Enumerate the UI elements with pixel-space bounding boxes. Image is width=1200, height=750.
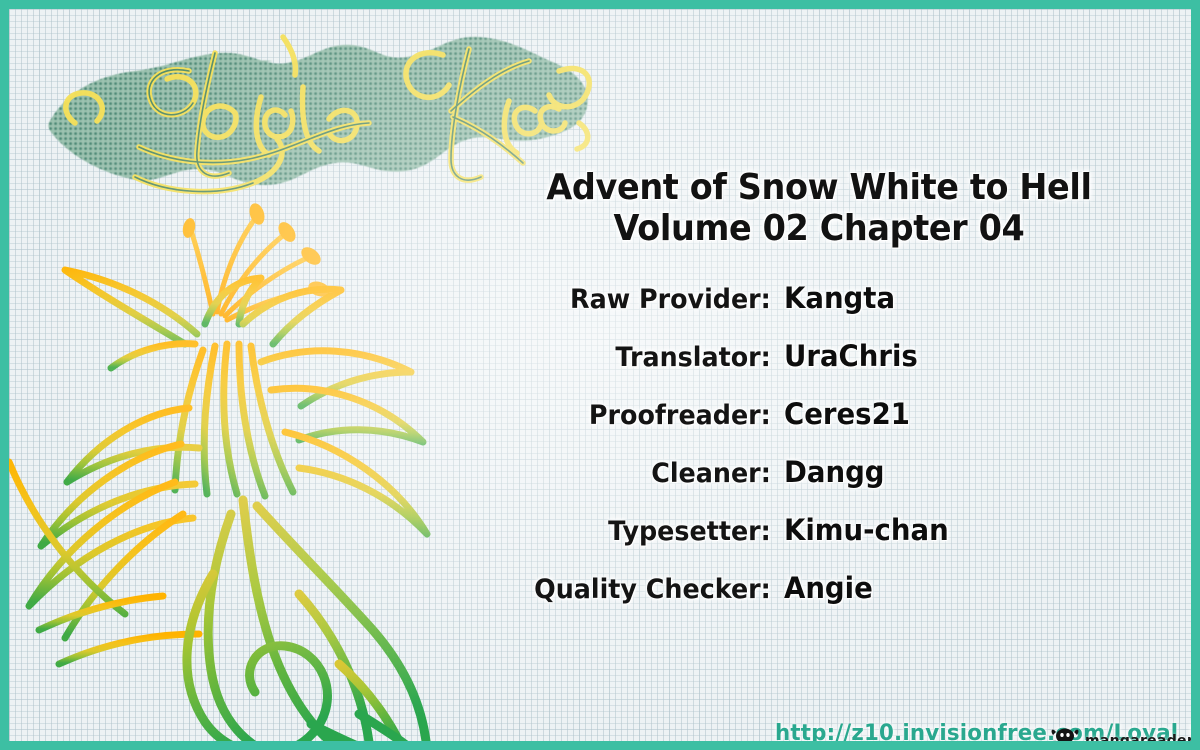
credit-person-name: Dangg: [784, 455, 885, 489]
page-title: Advent of Snow White to Hell Volume 02 C…: [469, 167, 1169, 250]
title-line-1: Advent of Snow White to Hell: [494, 167, 1145, 208]
credit-row-raw-provider: Raw Provider: Kangta: [479, 281, 1169, 339]
credits-list: Raw Provider: Kangta Translator: UraChri…: [479, 281, 1169, 629]
credit-person-name: Ceres21: [784, 397, 910, 431]
credit-row-translator: Translator: UraChris: [479, 339, 1169, 397]
credit-person-name: UraChris: [784, 339, 918, 373]
credit-row-cleaner: Cleaner: Dangg: [479, 455, 1169, 513]
credits-page: Advent of Snow White to Hell Volume 02 C…: [0, 0, 1200, 750]
mangareader-watermark-text: mangareader.net: [1085, 733, 1200, 749]
credit-role-label: Typesetter:: [497, 516, 784, 547]
credit-role-label: Quality Checker:: [497, 574, 784, 605]
credit-person-name: Kangta: [784, 281, 895, 315]
mangareader-watermark: mangareader.net: [1049, 725, 1200, 750]
title-line-2: Volume 02 Chapter 04: [494, 208, 1145, 249]
credit-person-name: Kimu-chan: [784, 513, 949, 547]
credit-row-quality-checker: Quality Checker: Angie: [479, 571, 1169, 629]
credit-person-name: Angie: [784, 571, 873, 605]
credit-row-proofreader: Proofreader: Ceres21: [479, 397, 1169, 455]
lily-flower-illustration: [0, 194, 479, 750]
credit-role-label: Cleaner:: [497, 458, 784, 489]
credit-role-label: Proofreader:: [497, 400, 784, 431]
credit-role-label: Raw Provider:: [497, 284, 784, 315]
mangareader-mascot-icon: [1049, 725, 1083, 750]
credit-row-typesetter: Typesetter: Kimu-chan: [479, 513, 1169, 571]
credit-role-label: Translator:: [497, 342, 784, 373]
